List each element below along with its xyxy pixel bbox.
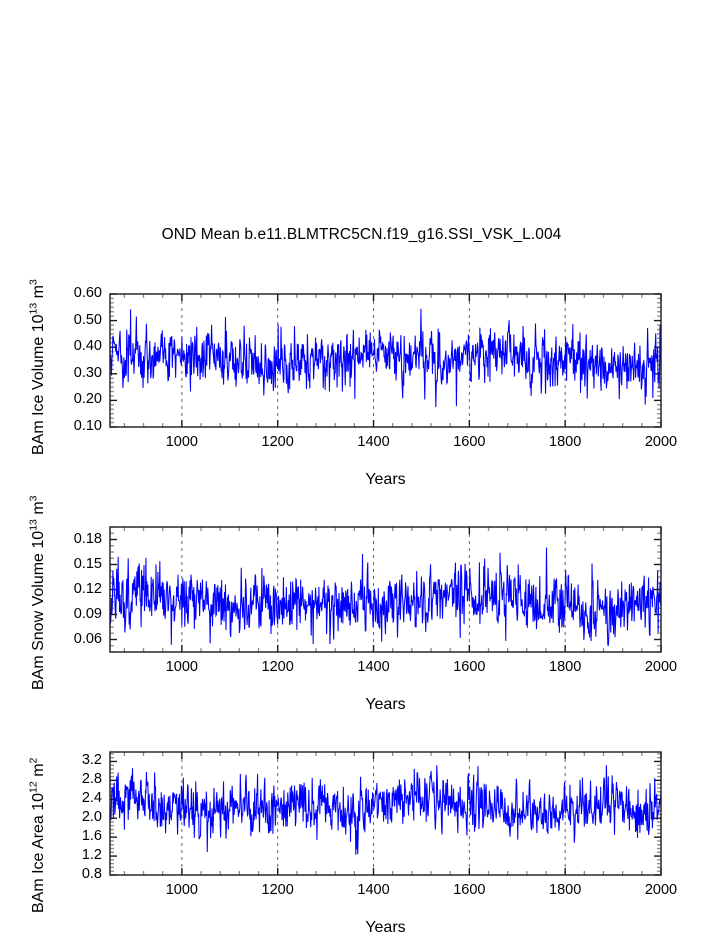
y-axis-label-exponent: 13: [28, 303, 40, 315]
x-tick-label: 1400: [344, 434, 404, 450]
x-tick-label: 1800: [535, 659, 595, 675]
y-tick-label: 0.50: [44, 312, 102, 328]
y-tick-label: 0.15: [44, 556, 102, 572]
y-tick-label: 2.8: [44, 771, 102, 787]
data-series-bam-ice-volume: [110, 309, 661, 407]
x-tick-label: 1600: [439, 434, 499, 450]
y-tick-label: 0.20: [44, 391, 102, 407]
y-axis-label-exponent: 3: [28, 495, 40, 501]
y-tick-label: 1.6: [44, 828, 102, 844]
y-tick-label: 2.4: [44, 790, 102, 806]
y-tick-label: 0.12: [44, 581, 102, 597]
y-axis-label-exponent: 3: [28, 279, 40, 285]
x-tick-label: 1400: [344, 659, 404, 675]
y-tick-label: 0.60: [44, 285, 102, 301]
x-tick-label: 1200: [248, 659, 308, 675]
data-series-bam-ice-area: [110, 765, 661, 855]
y-tick-label: 0.30: [44, 365, 102, 381]
data-series-bam-snow-volume: [110, 548, 661, 646]
y-tick-label: 2.0: [44, 809, 102, 825]
page-title: OND Mean b.e11.BLMTRC5CN.f19_g16.SSI_VSK…: [0, 226, 723, 244]
x-tick-label: 1800: [535, 882, 595, 898]
x-tick-label: 1000: [152, 434, 212, 450]
y-tick-label: 0.06: [44, 631, 102, 647]
x-tick-label: 1400: [344, 882, 404, 898]
y-tick-label: 0.8: [44, 866, 102, 882]
x-tick-label: 1000: [152, 659, 212, 675]
plot-area-snow-volume: [109, 526, 662, 653]
figure-canvas: OND Mean b.e11.BLMTRC5CN.f19_g16.SSI_VSK…: [0, 0, 723, 935]
y-axis-label-exponent: 2: [28, 758, 40, 764]
y-tick-label: 0.18: [44, 531, 102, 547]
x-tick-label: 1200: [248, 434, 308, 450]
x-axis-label-snow-volume: Years: [110, 696, 661, 714]
y-tick-label: 0.09: [44, 606, 102, 622]
plot-area-ice-volume: [109, 293, 662, 428]
x-tick-label: 1800: [535, 434, 595, 450]
x-tick-label: 2000: [631, 434, 691, 450]
y-tick-label: 0.10: [44, 418, 102, 434]
x-tick-label: 1600: [439, 882, 499, 898]
x-tick-label: 1000: [152, 882, 212, 898]
y-tick-label: 3.2: [44, 752, 102, 768]
y-axis-label-exponent: 12: [28, 781, 40, 793]
x-tick-label: 2000: [631, 659, 691, 675]
x-tick-label: 1600: [439, 659, 499, 675]
x-tick-label: 1200: [248, 882, 308, 898]
y-axis-label-text: m: [30, 501, 47, 519]
x-axis-label-ice-area: Years: [110, 919, 661, 937]
y-axis-label-exponent: 13: [28, 519, 40, 531]
x-axis-label-ice-volume: Years: [110, 471, 661, 489]
y-tick-label: 1.2: [44, 847, 102, 863]
plot-area-ice-area: [109, 751, 662, 876]
y-tick-label: 0.40: [44, 338, 102, 354]
x-tick-label: 2000: [631, 882, 691, 898]
